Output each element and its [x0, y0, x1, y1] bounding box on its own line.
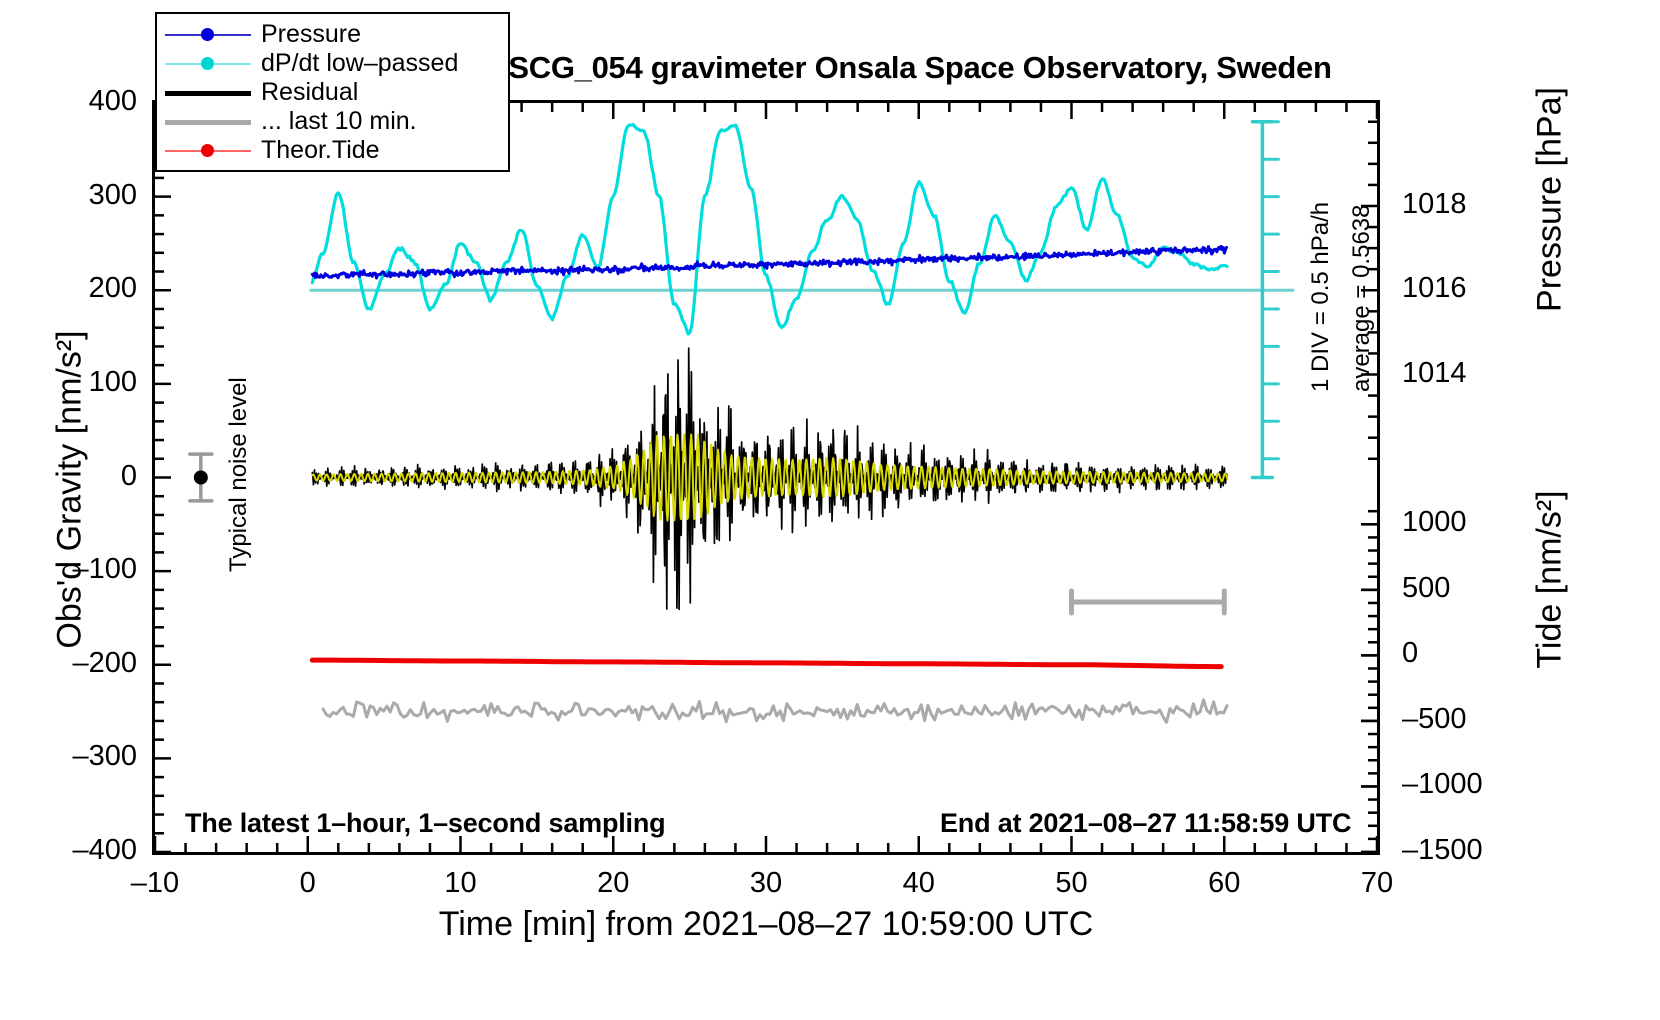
y-tick-gravity: 100	[27, 368, 137, 397]
plot-canvas	[155, 103, 1377, 852]
y-tick-tide: –500	[1402, 705, 1467, 734]
legend-swatch-last10	[165, 112, 251, 132]
y-tick-pressure: 1018	[1402, 190, 1467, 219]
y-tick-gravity: –400	[27, 836, 137, 865]
legend-label-residual: Residual	[261, 78, 358, 107]
x-tick: 50	[1012, 869, 1132, 898]
legend-item[interactable]: dP/dt low–passed	[165, 49, 500, 78]
x-tick: 70	[1317, 869, 1437, 898]
y-tick-pressure: 1016	[1402, 274, 1467, 303]
y-axis-title-tide: Tide [nm/s²]	[1531, 370, 1570, 790]
y-tick-gravity: –200	[27, 649, 137, 678]
x-tick: 0	[248, 869, 368, 898]
y-axis-title-pressure: Pressure [hPa]	[1531, 0, 1570, 410]
y-axis-ticks-gravity	[155, 103, 171, 852]
y-tick-tide: 0	[1402, 639, 1418, 668]
series-theor-tide	[312, 660, 1221, 667]
legend-swatch-tide	[165, 141, 251, 161]
x-tick: 30	[706, 869, 826, 898]
legend-label-pressure: Pressure	[261, 20, 361, 49]
plot-area	[152, 100, 1380, 855]
end-time-note: End at 2021–08–27 11:58:59 UTC	[940, 808, 1351, 839]
series-pressure	[312, 246, 1226, 278]
y-tick-gravity: 400	[27, 87, 137, 116]
y-tick-pressure: 1014	[1402, 359, 1467, 388]
noise-level-label: Typical noise level	[225, 377, 253, 572]
y-tick-gravity: 300	[27, 181, 137, 210]
legend-item[interactable]: Pressure	[165, 20, 500, 49]
series-last10	[323, 700, 1227, 723]
x-tick: 40	[859, 869, 979, 898]
sampling-note: The latest 1–hour, 1–second sampling	[185, 808, 665, 839]
x-tick: 20	[553, 869, 673, 898]
y-tick-tide: –1000	[1402, 770, 1483, 799]
legend-swatch-residual	[165, 83, 251, 103]
pressure-scale-note: 1 DIV = 0.5 hPa/h	[1307, 202, 1335, 392]
legend-label-dpdt: dP/dt low–passed	[261, 49, 458, 78]
legend-swatch-dpdt	[165, 54, 251, 74]
legend-item[interactable]: Residual	[165, 78, 500, 107]
x-tick: 10	[401, 869, 521, 898]
y-tick-gravity: –300	[27, 742, 137, 771]
x-tick: 60	[1164, 869, 1284, 898]
y-tick-tide: 1000	[1402, 508, 1467, 537]
legend-label-last10: ... last 10 min.	[261, 107, 417, 136]
legend-item[interactable]: ... last 10 min.	[165, 107, 500, 136]
x-axis-title: Time [min] from 2021–08–27 10:59:00 UTC	[152, 905, 1380, 944]
legend-label-tide: Theor.Tide	[261, 136, 380, 165]
y-tick-gravity: 200	[27, 274, 137, 303]
y-tick-tide: 500	[1402, 574, 1450, 603]
legend-swatch-pressure	[165, 25, 251, 45]
noise-level-marker	[194, 471, 208, 485]
legend[interactable]: Pressure dP/dt low–passed Residual ... l…	[155, 12, 510, 172]
y-tick-tide: –1500	[1402, 836, 1483, 865]
y-tick-gravity: 0	[27, 462, 137, 491]
y-tick-gravity: –100	[27, 555, 137, 584]
page-title: SCG_054 gravimeter Onsala Space Observat…	[420, 50, 1420, 86]
x-tick: –10	[95, 869, 215, 898]
legend-item[interactable]: Theor.Tide	[165, 136, 500, 165]
pressure-average-note: average = 0.5638	[1348, 205, 1376, 393]
